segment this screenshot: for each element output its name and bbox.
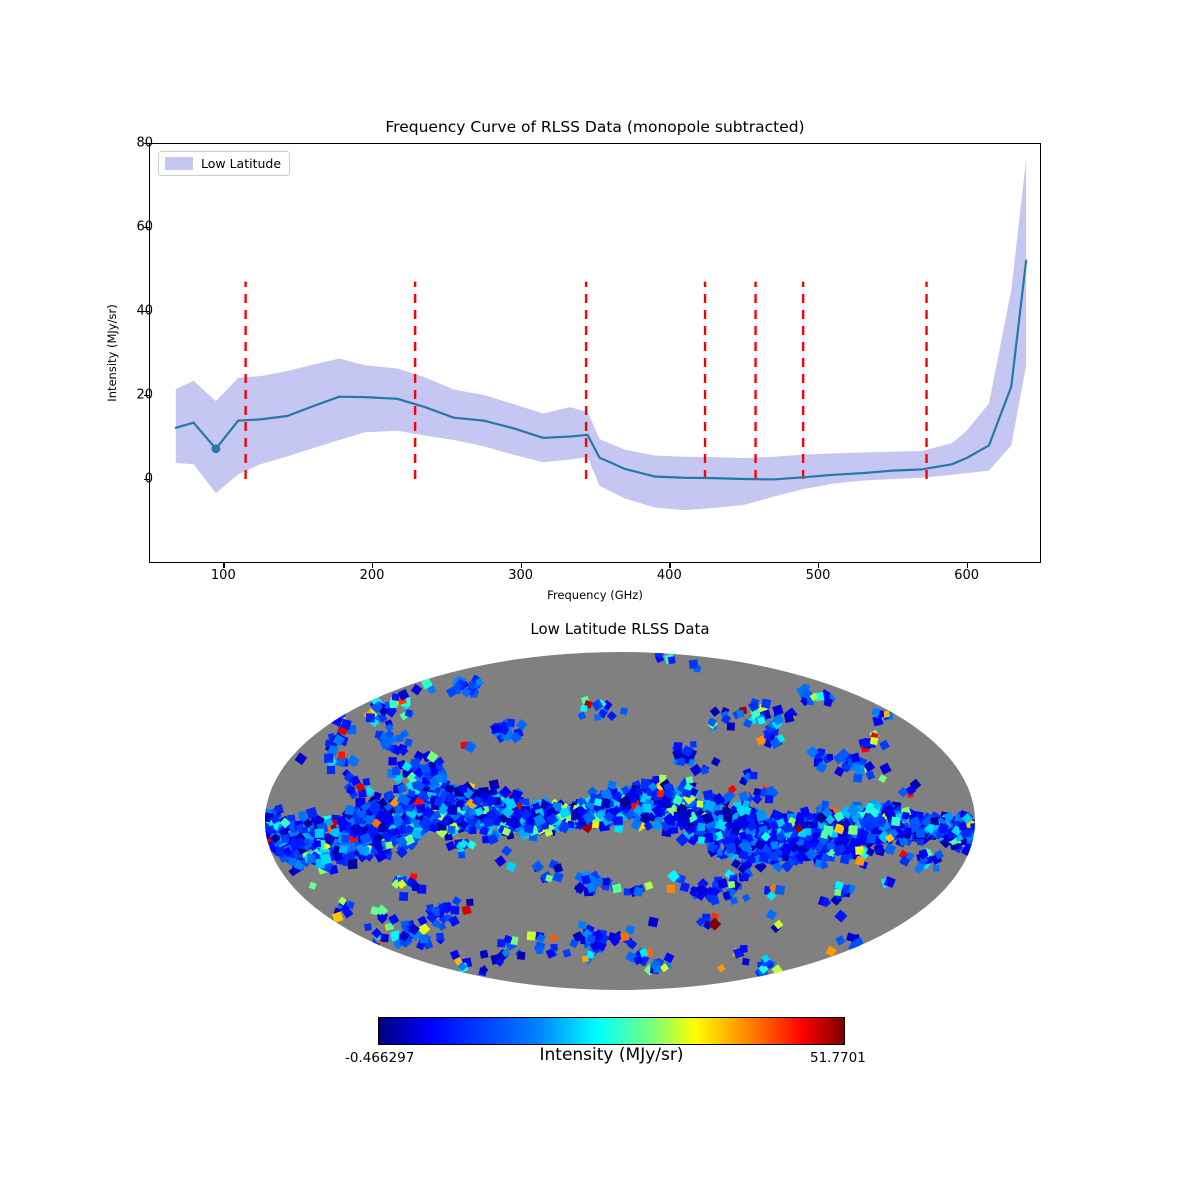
map-pixel [620,932,630,942]
map-pixel [784,712,794,722]
map-pixel [633,887,643,897]
map-pixel [852,763,860,771]
map-pixel [765,795,774,804]
map-pixel [668,656,676,664]
y-tick-label: 60 [93,220,153,235]
map-pixel [775,885,785,895]
legend[interactable]: Low Latitude [158,151,290,176]
map-pixel [409,791,415,797]
map-pixel [853,773,863,783]
map-pixel [689,659,699,669]
map-pixel [580,705,587,712]
map-pixel [696,801,703,808]
curve-marker-point [212,444,221,453]
x-tick-label: 400 [639,568,699,583]
map-pixel [685,776,693,784]
map-pixel [412,884,419,891]
map-pixel [592,821,600,829]
map-pixel [458,851,465,858]
y-tick-label: 20 [93,388,153,403]
map-pixel [874,844,884,854]
map-pixel [389,700,397,708]
map-pixel [853,838,860,845]
map-pixel [690,741,697,748]
map-pixel [600,798,611,809]
map-pixel [315,829,324,838]
map-pixel [364,923,372,931]
y-tick-label: 80 [93,136,153,151]
map-pixel [419,934,428,943]
map-pixel [855,846,864,855]
map-pixel [450,906,459,915]
map-pixel [469,827,476,834]
map-pixel [801,809,809,817]
map-pixel [653,965,660,972]
map-pixel [754,788,761,795]
map-pixel [506,719,515,728]
map-pixel [380,934,389,943]
map-pixel [770,841,779,850]
map-pixel [635,788,642,795]
map-pixel [394,805,403,814]
x-tick-label: 200 [342,568,402,583]
map-pixel [550,944,557,951]
map-pixel [341,834,350,843]
map-pixel [466,899,474,907]
map-pixel [298,811,306,819]
map-pixel [667,885,675,893]
map-pixel [388,757,396,765]
figure-canvas: Frequency Curve of RLSS Data (monopole s… [0,0,1200,1200]
map-pixel [905,828,912,835]
y-tick-label: 0 [93,472,153,487]
map-pixel [594,798,602,806]
map-pixel [612,883,622,893]
map-pixel [339,845,348,854]
map-pixel [875,717,883,725]
map-pixel [392,767,400,775]
map-pixel [827,842,834,849]
map-pixel [594,714,601,721]
map-pixel [399,892,408,901]
map-pixel [756,810,767,821]
x-tick-label: 600 [937,568,997,583]
map-pixel [536,947,543,954]
map-pixel [324,754,333,763]
colorbar-gradient [378,1017,845,1045]
map-pixel [761,699,771,709]
map-pixel [459,785,467,793]
map-pixel [652,776,659,783]
map-pixel [416,804,425,813]
map-pixel [811,821,818,828]
map-pixel [891,816,901,826]
map-pixel [480,950,489,959]
line-plot-title: Frequency Curve of RLSS Data (monopole s… [149,118,1041,136]
map-pixel [447,805,457,815]
map-pixel [740,945,748,953]
map-pixel [642,804,651,813]
map-pixel [447,825,456,834]
map-pixel [698,836,706,844]
x-tick-label: 300 [491,568,551,583]
map-pixel [671,826,679,834]
x-axis-label: Frequency (GHz) [149,588,1041,602]
map-pixel [866,834,876,844]
map-pixel [742,958,750,966]
map-pixel [527,931,536,940]
legend-label-low-latitude: Low Latitude [201,156,281,171]
map-pixel [933,865,940,872]
map-pixel [648,917,659,928]
colorbar-label: Intensity (MJy/sr) [378,1045,845,1065]
map-pixel [766,788,774,796]
map-pixel [344,805,354,815]
map-pixel [834,889,841,896]
line-plot-drawing [149,143,1041,563]
map-pixel [491,725,500,734]
colorbar-wrapper [378,1017,845,1045]
map-pixel [917,838,924,845]
map-pixel [314,840,321,847]
map-pixel [848,825,858,835]
map-pixel [603,878,610,885]
legend-swatch-low-latitude [165,157,193,170]
map-pixel [301,826,308,833]
map-pixel [578,921,586,929]
map-pixel [327,766,336,775]
x-tick-label: 100 [193,568,253,583]
map-pixel [411,758,421,768]
map-pixel [736,710,744,718]
map-pixel [723,891,731,899]
map-pixel [366,713,375,722]
map-pixel [347,859,357,869]
map-pixel [524,824,534,834]
map-pixel [697,823,705,831]
map-pixel [517,951,526,960]
y-axis-label: Intensity (MJy/sr) [105,143,131,563]
x-tick-label: 500 [788,568,848,583]
map-pixel [723,814,731,822]
sky-map-panel [265,651,975,991]
map-title: Low Latitude RLSS Data [265,620,975,638]
map-pixel [822,825,833,836]
map-pixel [368,827,378,837]
map-pixel [445,793,456,804]
map-pixel [363,778,371,786]
map-pixel [489,779,500,790]
map-pixel [436,933,444,941]
map-pixel [870,737,878,745]
map-pixel [347,843,355,851]
mollweide-sky-map [265,651,975,991]
map-pixel [728,881,735,888]
map-pixel [385,841,393,849]
map-pixel [826,754,833,761]
map-pixel [384,816,394,826]
curve-markers [212,444,221,453]
map-pixel [338,752,345,759]
map-pixel [776,833,784,841]
map-pixel [750,772,758,780]
map-pixel [280,834,289,843]
map-pixel [727,722,735,730]
map-pixel [704,800,715,811]
y-tick-label: 40 [93,304,153,319]
map-pixel [902,812,910,820]
line-plot-panel: Intensity (MJy/sr) Low Latitude [149,143,1041,563]
map-pixel [392,693,400,701]
map-pixel [307,854,317,864]
